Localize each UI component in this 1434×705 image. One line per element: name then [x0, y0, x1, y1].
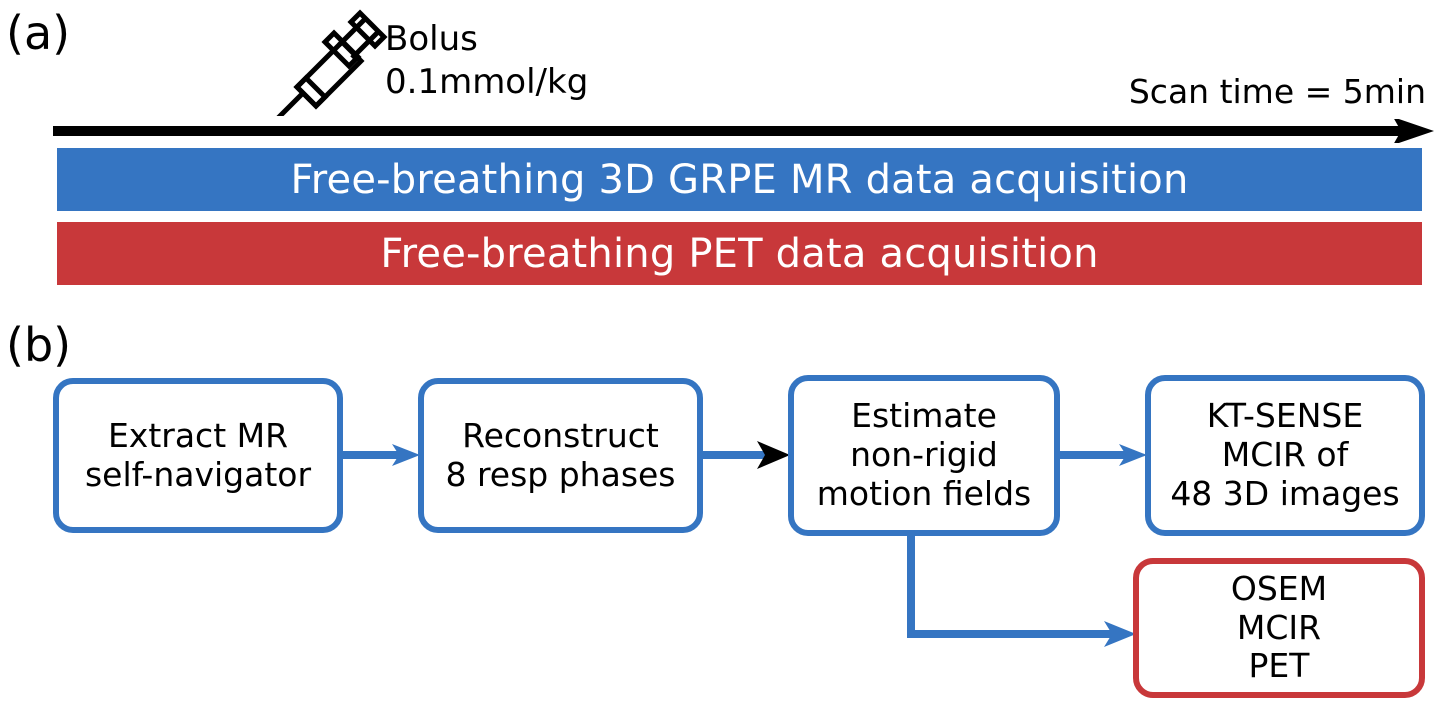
flow-box-recon-line-1: Reconstruct [462, 417, 659, 456]
bolus-dose-label: Bolus 0.1mmol/kg [385, 18, 588, 103]
flow-box-ktsense-line-2: MCIR of [1222, 436, 1348, 475]
flow-box-reconstruct-resp-phases[interactable]: Reconstruct 8 resp phases [418, 378, 703, 533]
pet-acquisition-bar: Free-breathing PET data acquisition [57, 222, 1422, 285]
flow-box-ktsense-mcir[interactable]: KT-SENSE MCIR of 48 3D images [1145, 375, 1425, 536]
flow-box-osem-mcir-pet[interactable]: OSEM MCIR PET [1133, 558, 1425, 698]
bolus-line-1: Bolus [385, 19, 478, 59]
flow-box-estimate-motion-fields[interactable]: Estimate non-rigid motion fields [788, 375, 1060, 536]
connector-estimate-to-ktsense [1060, 444, 1147, 466]
connector-extract-to-recon [343, 444, 420, 466]
panel-a-label: (a) [6, 10, 70, 56]
syringe-icon [268, 8, 388, 116]
flow-box-extract-line-2: self-navigator [85, 456, 311, 495]
figure-root: (a) Bolus 0.1mmol/kg Scan time = 5min Fr… [0, 0, 1434, 705]
flow-box-extract-line-1: Extract MR [108, 417, 288, 456]
flow-box-estimate-line-3: motion fields [817, 475, 1031, 514]
bolus-line-2: 0.1mmol/kg [385, 62, 588, 102]
timeline-arrow-icon [53, 119, 1434, 143]
flow-box-osem-line-1: OSEM [1231, 570, 1327, 609]
mr-acquisition-bar: Free-breathing 3D GRPE MR data acquisiti… [57, 148, 1422, 211]
flow-box-estimate-line-1: Estimate [851, 397, 997, 436]
flow-box-estimate-line-2: non-rigid [850, 436, 998, 475]
flow-box-osem-line-3: PET [1249, 647, 1310, 686]
connector-estimate-to-osem [911, 533, 1136, 647]
flow-box-osem-line-2: MCIR [1237, 609, 1321, 648]
pet-acquisition-label: Free-breathing PET data acquisition [380, 231, 1098, 277]
connector-recon-to-estimate [703, 441, 790, 469]
scan-time-label: Scan time = 5min [1129, 72, 1426, 111]
flow-box-ktsense-line-1: KT-SENSE [1207, 397, 1363, 436]
flow-box-extract-mr-self-navigator[interactable]: Extract MR self-navigator [53, 378, 343, 533]
flow-box-ktsense-line-3: 48 3D images [1170, 475, 1399, 514]
mr-acquisition-label: Free-breathing 3D GRPE MR data acquisiti… [290, 157, 1188, 203]
flow-box-recon-line-2: 8 resp phases [445, 456, 675, 495]
panel-b-label: (b) [6, 322, 71, 368]
